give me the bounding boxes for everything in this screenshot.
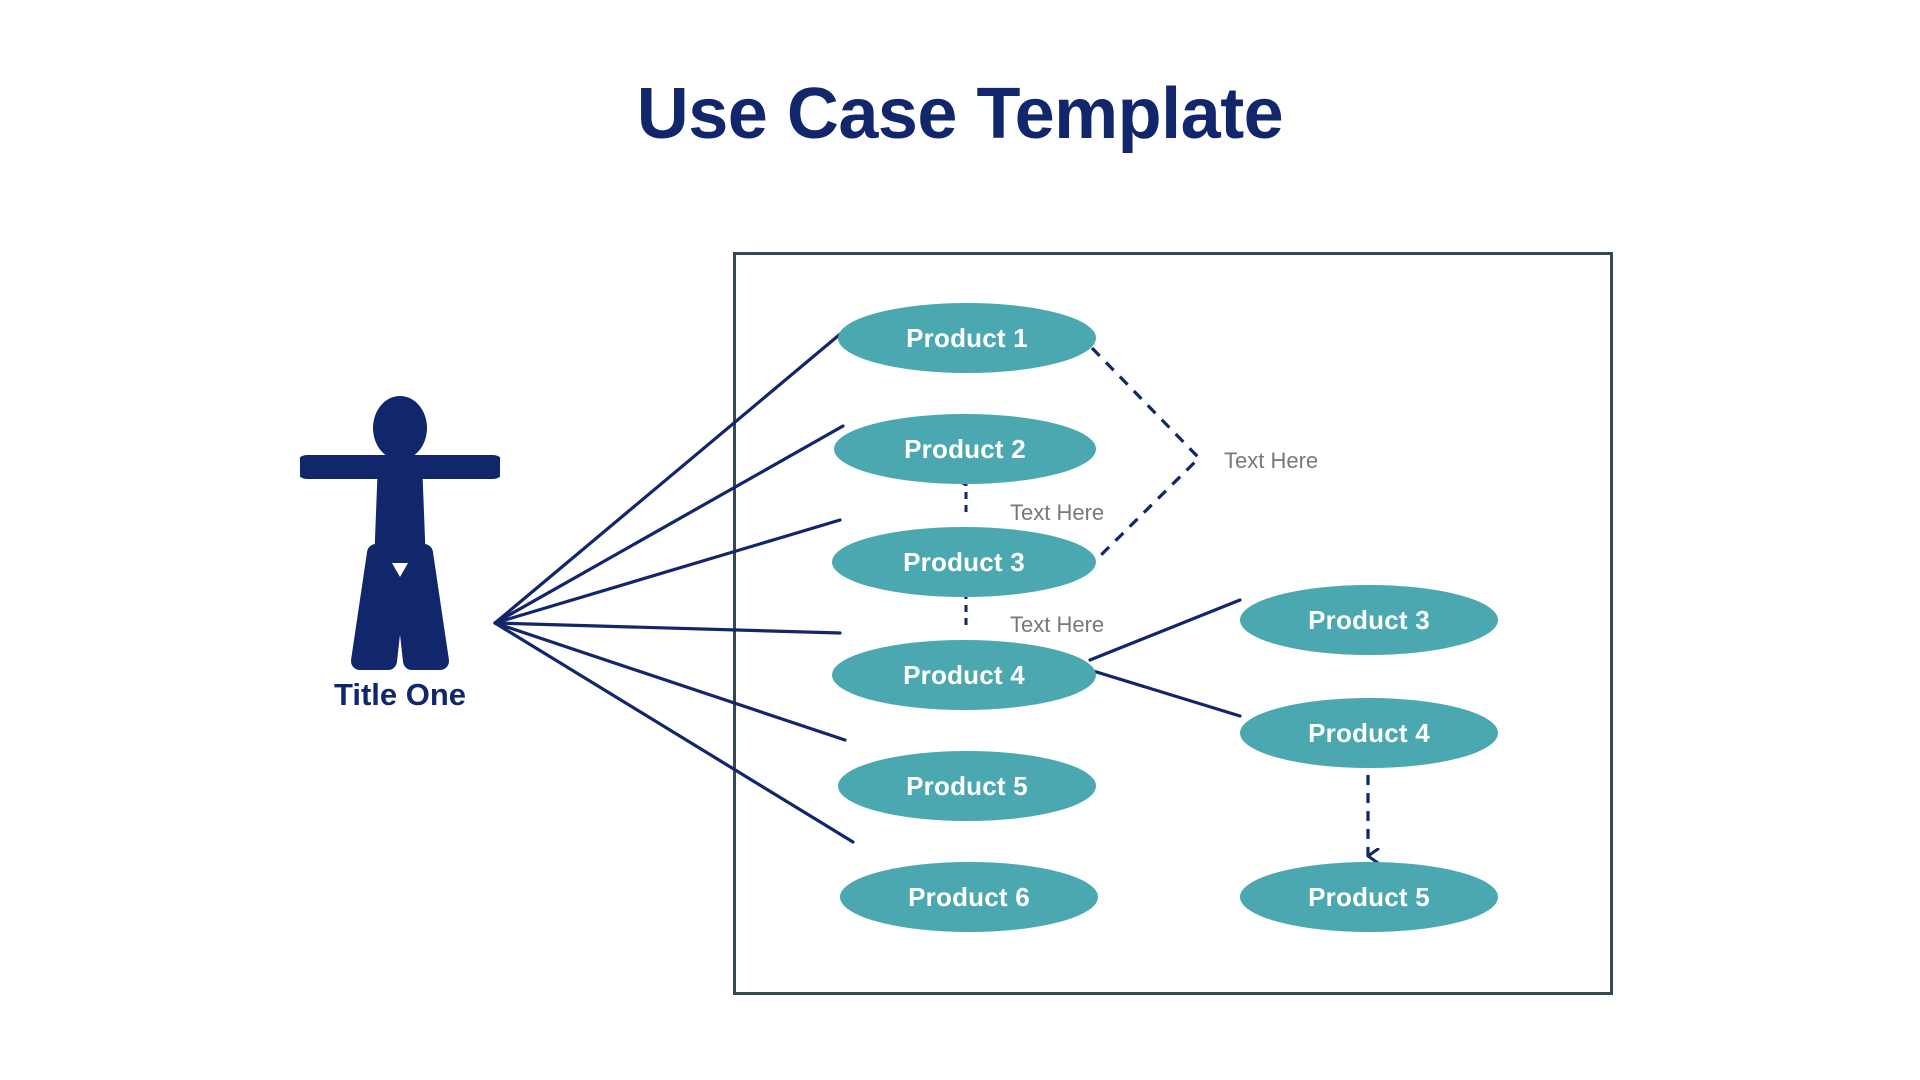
use-case-right-product-5[interactable]: Product 5 [1240, 862, 1498, 932]
use-case-label: Product 4 [903, 660, 1025, 691]
use-case-label: Product 5 [906, 771, 1028, 802]
use-case-label: Product 3 [1308, 605, 1430, 636]
use-case-label: Product 2 [904, 434, 1026, 465]
use-case-product-3[interactable]: Product 3 [832, 527, 1096, 597]
edge-label-extend-outer: Text Here [1224, 448, 1318, 474]
use-case-right-product-4[interactable]: Product 4 [1240, 698, 1498, 768]
use-case-label: Product 3 [903, 547, 1025, 578]
diagram-canvas: Use Case Template Title One [0, 0, 1920, 1080]
page-title: Use Case Template [0, 78, 1920, 150]
actor-label: Title One [280, 677, 520, 713]
use-case-product-2[interactable]: Product 2 [834, 414, 1096, 484]
use-case-product-5[interactable]: Product 5 [838, 751, 1096, 821]
actor-stick-figure-icon [300, 395, 500, 685]
use-case-label: Product 4 [1308, 718, 1430, 749]
edge-label-include-upper: Text Here [1010, 500, 1104, 526]
use-case-product-6[interactable]: Product 6 [840, 862, 1098, 932]
actor-group[interactable]: Title One [300, 395, 500, 735]
use-case-label: Product 5 [1308, 882, 1430, 913]
edge-label-include-lower: Text Here [1010, 612, 1104, 638]
use-case-right-product-3[interactable]: Product 3 [1240, 585, 1498, 655]
use-case-product-4[interactable]: Product 4 [832, 640, 1096, 710]
use-case-product-1[interactable]: Product 1 [838, 303, 1096, 373]
use-case-label: Product 6 [908, 882, 1030, 913]
use-case-label: Product 1 [906, 323, 1028, 354]
